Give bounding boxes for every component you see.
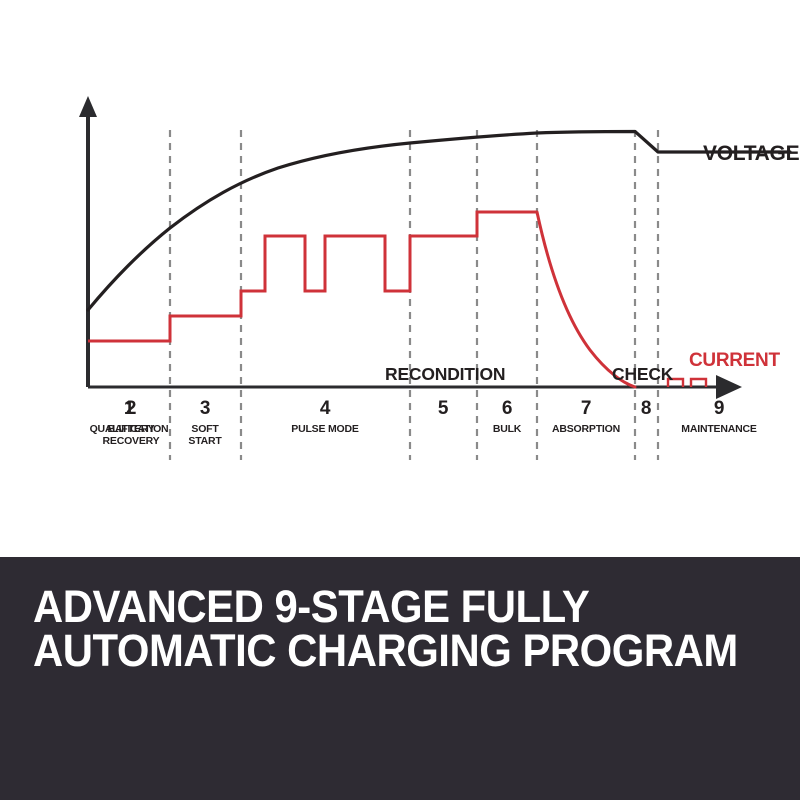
banner-heading-line-1: ADVANCED 9-STAGE FULLY xyxy=(33,585,721,629)
stage-name: ABSORPTION xyxy=(536,423,636,435)
charging-stage-chart: VOLTAGE CURRENT RECONDITION CHECK 1 QUAL… xyxy=(0,0,800,557)
title-banner: ADVANCED 9-STAGE FULLY AUTOMATIC CHARGIN… xyxy=(0,557,800,800)
x-axis-arrow-icon xyxy=(716,375,742,399)
voltage-curve xyxy=(88,132,790,311)
charging-program-infographic: VOLTAGE CURRENT RECONDITION CHECK 1 QUAL… xyxy=(0,0,800,800)
stage-item-2: 2 BATTERY RECOVERY xyxy=(88,398,174,447)
stage-item-5: 5 xyxy=(413,398,473,423)
current-curve xyxy=(88,212,537,341)
stage-number: 6 xyxy=(477,398,537,420)
stage-item-7: 7 ABSORPTION xyxy=(536,398,636,435)
stage-item-6: 6 BULK xyxy=(477,398,537,435)
stage-item-9: 9 MAINTENANCE xyxy=(664,398,774,435)
stage-number: 5 xyxy=(413,398,473,420)
stage-number: 8 xyxy=(634,398,658,420)
stage-name: PULSE MODE xyxy=(265,423,385,435)
banner-heading-line-2: AUTOMATIC CHARGING PROGRAM xyxy=(33,629,721,673)
chart-svg: VOLTAGE CURRENT RECONDITION CHECK xyxy=(0,0,800,557)
stage-item-3: 3 SOFT START xyxy=(170,398,240,447)
stage-number: 7 xyxy=(536,398,636,420)
stage-name: SOFT START xyxy=(170,423,240,447)
stage-legend: 1 QUALIFICATION 2 BATTERY RECOVERY 3 SOF… xyxy=(0,398,800,468)
stage-name: BATTERY RECOVERY xyxy=(88,423,174,447)
current-label: CURRENT xyxy=(689,350,780,371)
recondition-label: RECONDITION xyxy=(385,364,505,384)
absorption-decay-curve xyxy=(537,212,635,387)
stage-number: 3 xyxy=(170,398,240,420)
stage-name: BULK xyxy=(477,423,537,435)
y-axis-arrow-icon xyxy=(79,96,97,117)
stage-item-8: 8 xyxy=(634,398,658,423)
y-axis xyxy=(79,96,97,387)
stage-number: 2 xyxy=(88,398,174,420)
banner-heading: ADVANCED 9-STAGE FULLY AUTOMATIC CHARGIN… xyxy=(33,585,721,673)
stage-number: 4 xyxy=(265,398,385,420)
stage-item-4: 4 PULSE MODE xyxy=(265,398,385,435)
stage-name: MAINTENANCE xyxy=(664,423,774,435)
stage-number: 9 xyxy=(664,398,774,420)
check-label: CHECK xyxy=(612,364,674,384)
voltage-label: VOLTAGE xyxy=(703,142,800,165)
